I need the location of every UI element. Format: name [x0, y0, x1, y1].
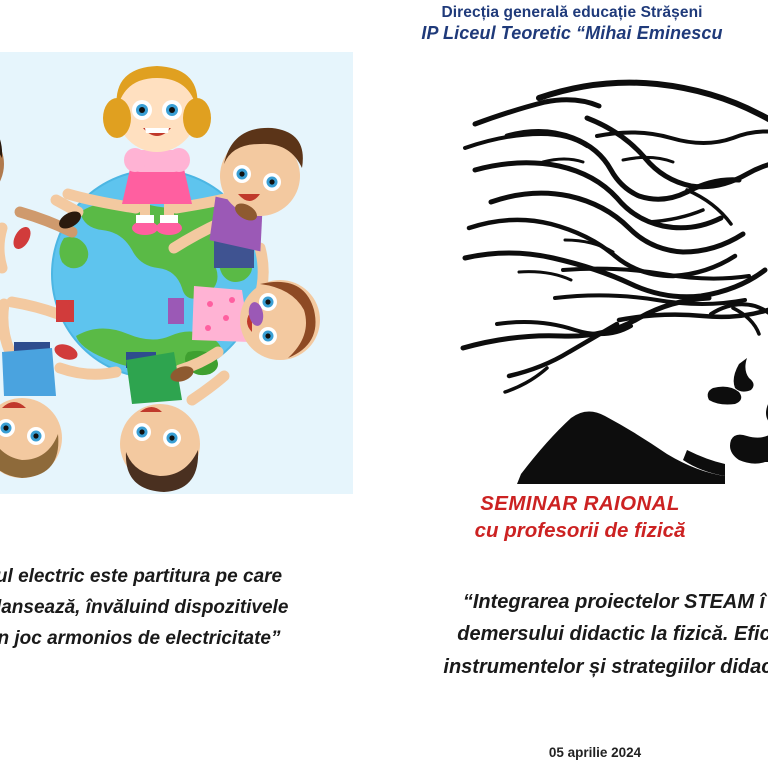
header-line-school: IP Liceul Teoretic “Mihai Eminescu	[352, 23, 768, 43]
header-line-department: Direcția generală educație Strășeni	[352, 4, 768, 21]
seminar-theme-line-1: “Integrarea proiectelor STEAM î	[404, 586, 768, 618]
children-globe-image	[0, 52, 353, 494]
seminar-heading: SEMINAR RAIONAL cu profesorii de fizică	[392, 491, 768, 544]
institution-header: Direcția generală educație Strășeni IP L…	[352, 4, 768, 44]
seminar-heading-line-2: cu profesorii de fizică	[392, 518, 768, 545]
quote-caption-line-1: ul electric este partitura pe care	[0, 562, 324, 593]
quote-caption: ul electric este partitura pe care danse…	[0, 562, 324, 654]
seminar-theme: “Integrarea proiectelor STEAM î demersul…	[404, 586, 768, 683]
seminar-heading-line-1: SEMINAR RAIONAL	[392, 491, 768, 518]
event-date: 05 aprilie 2024	[430, 745, 760, 760]
seminar-theme-line-3: instrumentelor și strategiilor didacti	[404, 651, 768, 683]
quote-caption-line-2: dansează, învăluind dispozitivele	[0, 593, 324, 624]
presentation-slide: Direcția generală educație Strășeni IP L…	[0, 0, 768, 768]
seminar-theme-line-2: demersului didactic la fizică. Efic	[404, 618, 768, 650]
eminescu-illustration	[447, 62, 768, 487]
quote-caption-line-3: n joc armonios de electricitate”	[0, 624, 324, 655]
